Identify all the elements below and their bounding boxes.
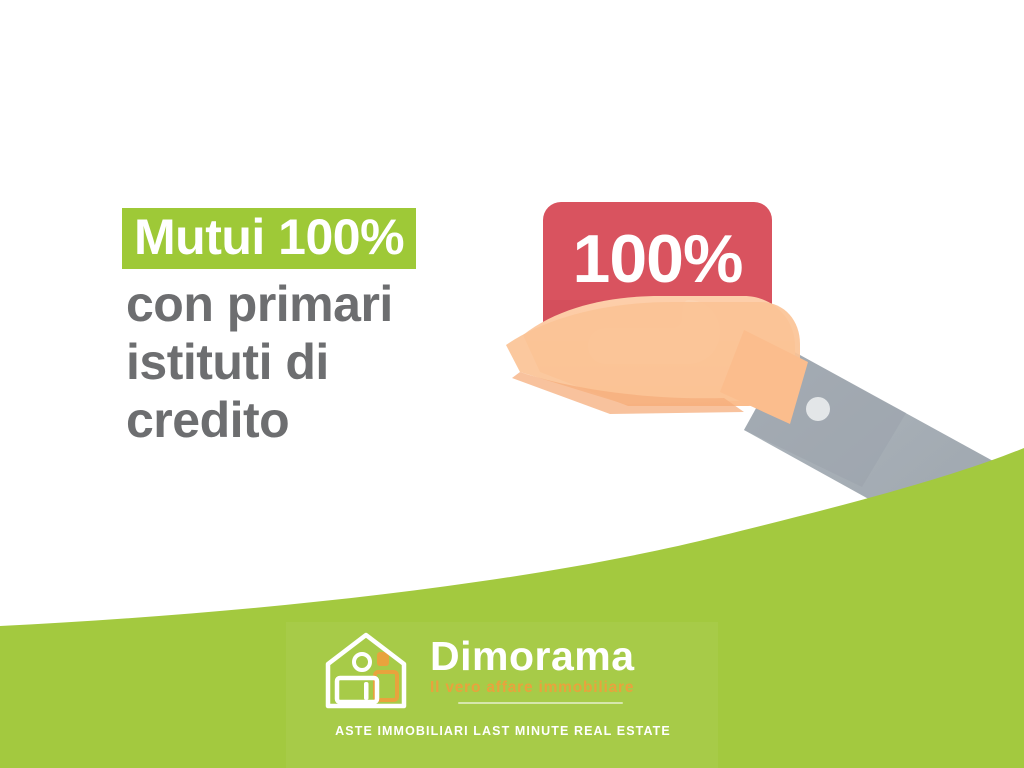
wordmark-group: Dimorama Il vero affare immobiliare	[430, 634, 680, 704]
logo-tagline: Il vero affare immobiliare	[430, 679, 680, 697]
tagline-divider	[458, 702, 623, 704]
house-circle-detail	[354, 654, 370, 670]
headline-line-2: istituti di	[126, 333, 526, 391]
headline-highlight: Mutui 100%	[122, 208, 416, 269]
sleeve-button-icon	[806, 397, 830, 421]
logo-wordmark: Dimorama	[430, 634, 680, 678]
brand-logo[interactable]: Dimorama Il vero affare immobiliare ASTE…	[322, 628, 682, 753]
headline-block: Mutui 100% con primari istituti di credi…	[126, 208, 526, 449]
house-outline-icon	[322, 630, 420, 712]
headline-line-1: con primari	[126, 275, 526, 333]
house-bar-detail	[364, 682, 369, 700]
promo-banner: Mutui 100% con primari istituti di credi…	[0, 0, 1024, 768]
badge-text-layer: 100%	[543, 202, 772, 343]
logo-footer-text: ASTE IMMOBILIARI LAST MINUTE REAL ESTATE	[328, 724, 678, 738]
headline-line-3: credito	[126, 391, 526, 449]
house-window-detail	[337, 678, 377, 702]
badge-value: 100%	[573, 220, 743, 298]
